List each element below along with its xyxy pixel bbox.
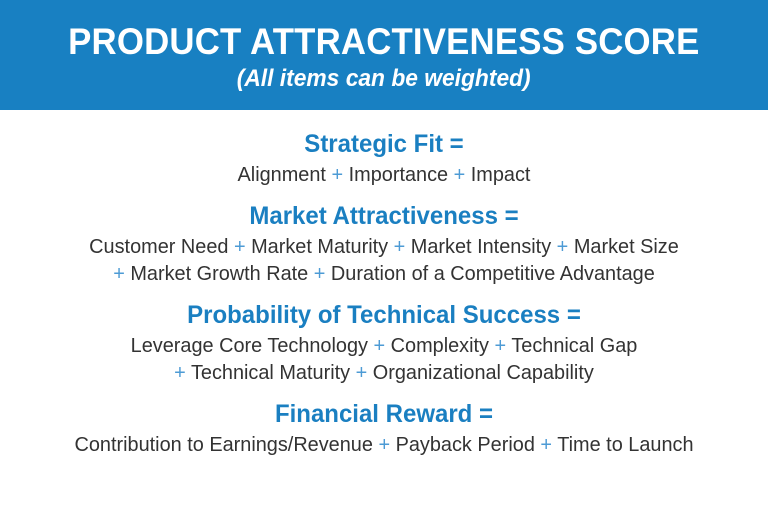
formula-term: Complexity — [391, 334, 489, 357]
formula-term: Alignment — [238, 163, 326, 186]
section-formula: Leverage Core Technology + Complexity + … — [0, 332, 768, 386]
formula-section: Strategic Fit =Alignment + Importance + … — [0, 129, 768, 188]
formula-term: Impact — [471, 163, 531, 186]
formula-term: Market Intensity — [411, 235, 551, 258]
formula-term: Importance — [349, 163, 448, 186]
formula-term: Market Growth Rate — [130, 262, 308, 285]
formula-term: Technical Gap — [511, 334, 637, 357]
plus-operator: + — [326, 163, 349, 186]
plus-operator: + — [373, 433, 396, 456]
plus-operator: + — [308, 262, 331, 285]
header-banner: PRODUCT ATTRACTIVENESS SCORE (All items … — [0, 0, 768, 110]
section-formula: Customer Need + Market Maturity + Market… — [0, 233, 768, 287]
formula-line: + Technical Maturity + Organizational Ca… — [12, 359, 757, 386]
section-heading: Market Attractiveness = — [15, 201, 752, 232]
formula-term: Contribution to Earnings/Revenue — [74, 433, 372, 456]
section-heading: Probability of Technical Success = — [15, 300, 752, 331]
plus-operator: + — [489, 334, 511, 357]
plus-operator: + — [448, 163, 471, 186]
section-formula: Alignment + Importance + Impact — [0, 161, 768, 188]
formula-term: Market Maturity — [251, 235, 388, 258]
formula-term: Organizational Capability — [373, 361, 594, 384]
formula-line: Customer Need + Market Maturity + Market… — [12, 233, 757, 260]
formula-section: Market Attractiveness =Customer Need + M… — [0, 201, 768, 287]
plus-operator: + — [535, 433, 557, 456]
plus-operator: + — [228, 235, 251, 258]
page-title: PRODUCT ATTRACTIVENESS SCORE — [68, 21, 699, 63]
plus-operator: + — [113, 262, 130, 285]
formula-line: Contribution to Earnings/Revenue + Payba… — [12, 431, 757, 458]
formula-term: Leverage Core Technology — [131, 334, 368, 357]
formula-term: Market Size — [574, 235, 679, 258]
formula-term: Customer Need — [89, 235, 228, 258]
formula-term: Duration of a Competitive Advantage — [331, 262, 655, 285]
formula-term: Payback Period — [396, 433, 535, 456]
plus-operator: + — [551, 235, 574, 258]
formula-section: Financial Reward =Contribution to Earnin… — [0, 399, 768, 458]
formula-line: Alignment + Importance + Impact — [12, 161, 757, 188]
formula-term: Time to Launch — [557, 433, 693, 456]
formula-line: Leverage Core Technology + Complexity + … — [12, 332, 757, 359]
page-subtitle: (All items can be weighted) — [237, 64, 531, 94]
product-attractiveness-score-poster: PRODUCT ATTRACTIVENESS SCORE (All items … — [0, 0, 768, 512]
formula-line: + Market Growth Rate + Duration of a Com… — [12, 260, 757, 287]
plus-operator: + — [174, 361, 191, 384]
plus-operator: + — [350, 361, 373, 384]
plus-operator: + — [388, 235, 411, 258]
formula-term: Technical Maturity — [191, 361, 350, 384]
section-heading: Financial Reward = — [15, 399, 752, 430]
formula-sections: Strategic Fit =Alignment + Importance + … — [0, 110, 768, 512]
formula-section: Probability of Technical Success =Levera… — [0, 300, 768, 386]
section-formula: Contribution to Earnings/Revenue + Payba… — [0, 431, 768, 458]
section-heading: Strategic Fit = — [15, 129, 752, 160]
plus-operator: + — [368, 334, 391, 357]
